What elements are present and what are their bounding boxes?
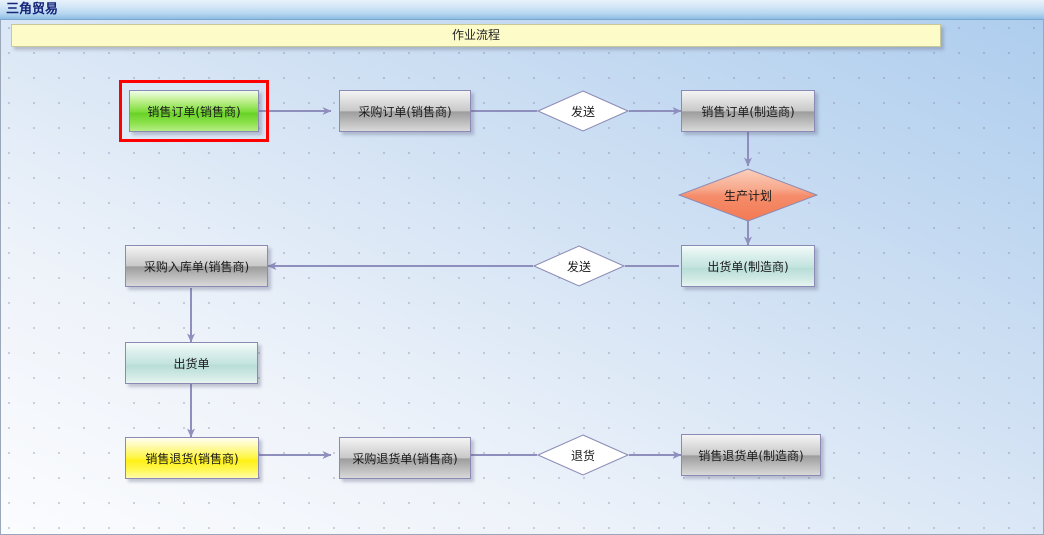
node-label: 销售退货(销售商) xyxy=(145,450,238,467)
node-return-1[interactable]: 退货 xyxy=(537,434,629,476)
node-sales-return-distributor[interactable]: 销售退货(销售商) xyxy=(125,437,259,479)
flow-header-label: 作业流程 xyxy=(12,25,940,46)
node-label: 采购入库单(销售商) xyxy=(144,258,249,275)
node-label: 销售订单(制造商) xyxy=(701,103,794,120)
node-label: 销售退货单(制造商) xyxy=(698,447,803,464)
node-label: 销售订单(销售商) xyxy=(147,103,240,120)
node-production-plan[interactable]: 生产计划 xyxy=(678,168,818,222)
window-title-bar: 三角贸易 xyxy=(0,0,1044,20)
node-send-2[interactable]: 发送 xyxy=(533,245,625,287)
node-purchase-order-distributor[interactable]: 采购订单(销售商) xyxy=(339,90,471,132)
flow-diagram-canvas[interactable]: 作业流程 xyxy=(0,20,1044,535)
application-window: 三角贸易 作业流程 xyxy=(0,0,1044,535)
node-sales-return-manufacturer[interactable]: 销售退货单(制造商) xyxy=(681,434,821,476)
window-title: 三角贸易 xyxy=(6,1,58,18)
node-purchase-receipt-distributor[interactable]: 采购入库单(销售商) xyxy=(125,245,268,287)
node-label: 采购订单(销售商) xyxy=(358,103,451,120)
node-sales-order-manufacturer[interactable]: 销售订单(制造商) xyxy=(681,90,815,132)
node-label: 采购退货单(销售商) xyxy=(352,450,457,467)
node-send-1[interactable]: 发送 xyxy=(537,90,629,132)
node-label: 出货单(制造商) xyxy=(707,258,788,275)
flow-header-band[interactable]: 作业流程 xyxy=(11,24,941,47)
node-shipping-order[interactable]: 出货单 xyxy=(125,342,258,384)
node-label: 发送 xyxy=(533,245,625,287)
node-label: 发送 xyxy=(537,90,629,132)
node-label: 出货单 xyxy=(173,355,209,372)
node-label: 退货 xyxy=(537,434,629,476)
node-shipping-order-manufacturer[interactable]: 出货单(制造商) xyxy=(681,245,815,287)
node-sales-order-distributor[interactable]: 销售订单(销售商) xyxy=(129,90,259,132)
node-purchase-return-distributor[interactable]: 采购退货单(销售商) xyxy=(339,437,471,479)
node-label: 生产计划 xyxy=(678,168,818,222)
